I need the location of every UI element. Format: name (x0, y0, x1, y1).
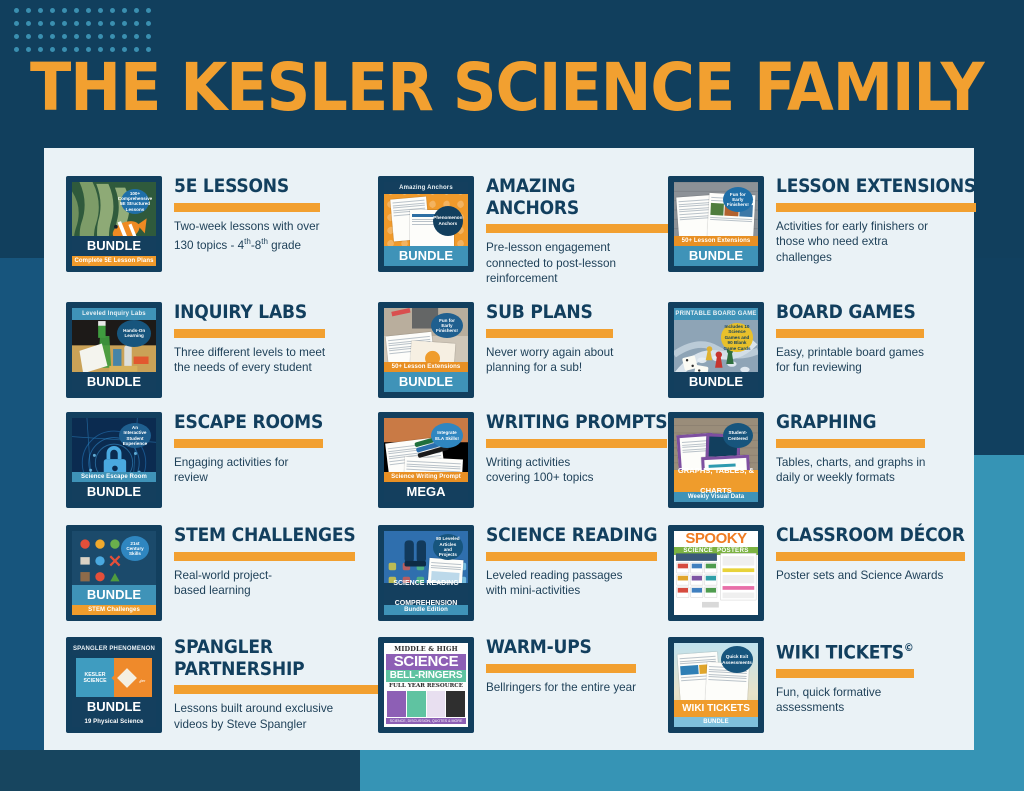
dot (110, 8, 115, 13)
dot (86, 34, 91, 39)
product-card[interactable]: Leveled Inquiry LabsHands-On LearningBUN… (66, 300, 378, 410)
thumbnail-badge: Quick Exit Assessments (721, 646, 753, 673)
product-text: ESCAPE ROOMSEngaging activities forrevie… (174, 410, 323, 486)
dot (98, 34, 103, 39)
product-thumbnail[interactable]: Fun for Early Finishers!50+ Lesson Exten… (378, 302, 474, 398)
orange-underline-bar (486, 329, 613, 338)
product-title: LESSON EXTENSIONS (776, 176, 976, 198)
product-description: Fun, quick formativeassessments (776, 685, 914, 716)
product-card[interactable]: Integrate ELA Skills!Science Writing Pro… (378, 410, 668, 523)
product-description: Leveled reading passageswith mini-activi… (486, 568, 657, 599)
product-text: CLASSROOM DÉCORPoster sets and Science A… (776, 523, 965, 583)
background-band-teal-bottom (360, 750, 1024, 791)
product-thumbnail[interactable]: 80 Leveled Articles and ProjectsBundle E… (378, 525, 474, 621)
thumbnail-bundle-label: BUNDLE (72, 697, 156, 717)
thumbnail-badge: Includes 10 Science Games and 90 Blank G… (721, 323, 753, 352)
thumbnail-badge: Integrate ELA Skills! (431, 423, 463, 448)
thumbnail-sub-label: 19 Physical Science Lessons (72, 717, 156, 727)
thumbnail-badge: 80 Leveled Articles and Projects (433, 534, 463, 559)
thumbnail-badge: Hands-On Learning (117, 320, 151, 347)
dot (14, 34, 19, 39)
product-description: Pre-lesson engagementconnected to post-l… (486, 240, 668, 287)
dot (62, 34, 67, 39)
thumbnail-sub-label: BUNDLE (674, 717, 758, 727)
dot (134, 21, 139, 26)
thumbnail-inner: 21st Century SkillsSTEM ChallengesBUNDLE (72, 531, 156, 615)
thumbnail-inner: An Interactive Student ExperienceScience… (72, 418, 156, 502)
dot (122, 8, 127, 13)
thumbnail-bundle-label: SCIENCE READING COMPREHENSION (384, 583, 468, 605)
product-thumbnail[interactable]: Leveled Inquiry LabsHands-On LearningBUN… (66, 302, 162, 398)
thumbnail-art-science-bell-ringers-cover: MIDDLE & HIGH SCIENCE BELL-RINGERS FULL … (384, 643, 468, 727)
product-description: Tables, charts, and graphs indaily or we… (776, 455, 925, 486)
product-card[interactable]: KESLERSCIENCE ✇stevespangler SPANGLER PH… (66, 635, 378, 750)
orange-underline-bar (486, 224, 668, 233)
product-description: Poster sets and Science Awards (776, 568, 965, 584)
thumbnail-art-spooky-science-posters: SPOOKY SCIENCE POSTERS (674, 531, 758, 615)
thumbnail-badge: Fun for Early Finishers! (723, 187, 753, 212)
thumbnail-badge: Fun for Early Finishers! (431, 313, 463, 338)
thumbnail-header-label: PRINTABLE BOARD GAME (674, 308, 758, 320)
thumbnail-badge: Phenomenon Anchors (433, 206, 463, 236)
product-description: Lessons built around exclusivevideos by … (174, 701, 378, 732)
thumbnail-bundle-label: BUNDLE (674, 246, 758, 266)
product-text: WIKI TICKETS©Fun, quick formativeassessm… (776, 635, 914, 716)
product-text: SCIENCE READINGLeveled reading passagesw… (486, 523, 657, 599)
dot (50, 21, 55, 26)
product-card[interactable]: MIDDLE & HIGH SCIENCE BELL-RINGERS FULL … (378, 635, 668, 750)
thumbnail-bundle-label: BUNDLE (674, 372, 758, 392)
product-card[interactable]: 100+ Comprehensive 5E Structured Lessons… (66, 174, 378, 300)
dot (146, 21, 151, 26)
thumbnail-inner: MIDDLE & HIGH SCIENCE BELL-RINGERS FULL … (384, 643, 468, 727)
product-text: GRAPHINGTables, charts, and graphs indai… (776, 410, 925, 486)
product-text: WARM-UPSBellringers for the entire year (486, 635, 636, 695)
product-thumbnail[interactable]: Integrate ELA Skills!Science Writing Pro… (378, 412, 474, 508)
thumbnail-inner: Amazing AnchorsPhenomenon AnchorsBUNDLE (384, 182, 468, 266)
thumbnail-inner: KESLERSCIENCE ✇stevespangler SPANGLER PH… (72, 643, 156, 727)
product-thumbnail[interactable]: SPOOKY SCIENCE POSTERS (668, 525, 764, 621)
orange-underline-bar (776, 552, 965, 561)
thumbnail-inner: Fun for Early Finishers!50+ Lesson Exten… (384, 308, 468, 392)
product-card[interactable]: Fun for Early Finishers!50+ Lesson Exten… (378, 300, 668, 410)
product-title: 5E LESSONS (174, 176, 320, 198)
product-description: Activities for early finishers orthose w… (776, 219, 976, 266)
product-title: GRAPHING (776, 412, 925, 434)
dot (38, 21, 43, 26)
product-thumbnail[interactable]: Quick Exit AssessmentsBUNDLEWIKI TICKETS (668, 637, 764, 733)
product-title: WIKI TICKETS© (776, 637, 914, 664)
product-title: SUB PLANS (486, 302, 613, 324)
orange-underline-bar (174, 685, 378, 694)
products-grid: 100+ Comprehensive 5E Structured Lessons… (44, 148, 974, 750)
product-thumbnail[interactable]: Amazing AnchorsPhenomenon AnchorsBUNDLE (378, 176, 474, 272)
thumbnail-bundle-label: MEGA BUNDLE (384, 482, 468, 502)
thumbnail-inner: Quick Exit AssessmentsBUNDLEWIKI TICKETS (674, 643, 758, 727)
thumbnail-inner: 80 Leveled Articles and ProjectsBundle E… (384, 531, 468, 615)
orange-underline-bar (486, 664, 636, 673)
dot (146, 34, 151, 39)
dot (122, 21, 127, 26)
product-description: Three different levels to meetthe needs … (174, 345, 325, 376)
thumbnail-sub-label: Science Writing Prompt Activities (384, 472, 468, 482)
orange-underline-bar (486, 552, 657, 561)
thumbnail-sub-label: 50+ Lesson Extensions (674, 236, 758, 246)
thumbnail-sub-label: Science Escape Room (72, 472, 156, 482)
dot (134, 8, 139, 13)
dot (50, 34, 55, 39)
dot (38, 34, 43, 39)
dot (50, 8, 55, 13)
copyright-symbol: © (904, 641, 914, 654)
orange-underline-bar (776, 669, 914, 678)
product-card[interactable]: 21st Century SkillsSTEM ChallengesBUNDLE… (66, 523, 378, 635)
thumbnail-bundle-label: BUNDLE (384, 372, 468, 392)
thumbnail-inner: Student-CenteredWeekly Visual DataGRAPHS… (674, 418, 758, 502)
dot (134, 34, 139, 39)
dot (26, 8, 31, 13)
orange-underline-bar (486, 439, 667, 448)
thumbnail-inner: Fun for Early Finishers!50+ Lesson Exten… (674, 182, 758, 266)
product-thumbnail[interactable]: 100+ Comprehensive 5E Structured Lessons… (66, 176, 162, 272)
thumbnail-inner: SPOOKY SCIENCE POSTERS (674, 531, 758, 615)
product-card[interactable]: SPOOKY SCIENCE POSTERS CLASSROOM DÉCORPo… (668, 523, 996, 635)
thumbnail-bundle-label: WIKI TICKETS (674, 700, 758, 717)
orange-underline-bar (776, 329, 924, 338)
product-thumbnail[interactable]: An Interactive Student ExperienceScience… (66, 412, 162, 508)
product-title: AMAZING ANCHORS (486, 176, 668, 219)
product-description: Never worry again aboutplanning for a su… (486, 345, 613, 376)
product-thumbnail[interactable]: Student-CenteredWeekly Visual DataGRAPHS… (668, 412, 764, 508)
product-description: Bellringers for the entire year (486, 680, 636, 696)
thumbnail-inner: Leveled Inquiry LabsHands-On LearningBUN… (72, 308, 156, 392)
product-description: Engaging activities forreview (174, 455, 323, 486)
orange-underline-bar (174, 439, 323, 448)
orange-underline-bar (174, 329, 325, 338)
thumbnail-bundle-label: BUNDLE (72, 372, 156, 392)
orange-underline-bar (174, 552, 355, 561)
product-card[interactable]: PRINTABLE BOARD GAMEIncludes 10 Science … (668, 300, 996, 410)
product-text: LESSON EXTENSIONSActivities for early fi… (776, 174, 976, 265)
dot (122, 34, 127, 39)
product-card[interactable]: Student-CenteredWeekly Visual DataGRAPHS… (668, 410, 996, 523)
product-text: SPANGLER PARTNERSHIPLessons built around… (174, 635, 378, 732)
thumbnail-header-label: Amazing Anchors (384, 182, 468, 194)
thumbnail-sub-label: Complete 5E Lesson Plans (72, 256, 156, 266)
thumbnail-bundle-label: GRAPHS, TABLES, & CHARTS (674, 470, 758, 492)
thumbnail-bundle-label: BUNDLE (72, 482, 156, 502)
orange-underline-bar (174, 203, 320, 212)
product-card[interactable]: Amazing AnchorsPhenomenon AnchorsBUNDLEA… (378, 174, 668, 300)
product-title: SPANGLER PARTNERSHIP (174, 637, 378, 680)
dot (110, 34, 115, 39)
product-text: SUB PLANSNever worry again aboutplanning… (486, 300, 613, 376)
dot (14, 47, 19, 52)
product-title: SCIENCE READING (486, 525, 657, 547)
product-description: Two-week lessons with over130 topics - 4… (174, 219, 320, 254)
product-text: STEM CHALLENGESReal-world project-based … (174, 523, 355, 599)
thumbnail-header-label: Leveled Inquiry Labs (72, 308, 156, 320)
products-panel: 100+ Comprehensive 5E Structured Lessons… (44, 148, 974, 750)
product-title: BOARD GAMES (776, 302, 924, 324)
thumbnail-sub-label: STEM Challenges (72, 605, 156, 615)
product-title: INQUIRY LABS (174, 302, 325, 324)
product-title: CLASSROOM DÉCOR (776, 525, 965, 547)
dot (146, 8, 151, 13)
dot (38, 8, 43, 13)
product-card[interactable]: An Interactive Student ExperienceScience… (66, 410, 378, 523)
dot (62, 21, 67, 26)
dot (26, 34, 31, 39)
product-card[interactable]: Fun for Early Finishers!50+ Lesson Exten… (668, 174, 996, 300)
product-title: STEM CHALLENGES (174, 525, 355, 547)
product-card[interactable]: 80 Leveled Articles and ProjectsBundle E… (378, 523, 668, 635)
product-description: Real-world project-based learning (174, 568, 355, 599)
product-description: Writing activitiescovering 100+ topics (486, 455, 667, 486)
dot (86, 21, 91, 26)
page-title: THE KESLER SCIENCE FAMILY (30, 52, 1024, 124)
thumbnail-sub-label: 50+ Lesson Extensions (384, 362, 468, 372)
product-title: WARM-UPS (486, 637, 636, 659)
dot (98, 21, 103, 26)
thumbnail-header-label: SPANGLER PHENOMENON (72, 643, 156, 655)
product-thumbnail[interactable]: Fun for Early Finishers!50+ Lesson Exten… (668, 176, 764, 272)
product-text: INQUIRY LABSThree different levels to me… (174, 300, 325, 376)
orange-underline-bar (776, 203, 976, 212)
thumbnail-bundle-label: BUNDLE (72, 585, 156, 605)
product-text: BOARD GAMESEasy, printable board gamesfo… (776, 300, 924, 376)
thumbnail-badge: An Interactive Student Experience (119, 423, 151, 448)
dot (110, 21, 115, 26)
dot (74, 8, 79, 13)
product-thumbnail[interactable]: 21st Century SkillsSTEM ChallengesBUNDLE (66, 525, 162, 621)
dot (14, 8, 19, 13)
dot (74, 34, 79, 39)
dot (98, 8, 103, 13)
dot (26, 21, 31, 26)
product-text: AMAZING ANCHORSPre-lesson engagementconn… (486, 174, 668, 287)
thumbnail-bundle-label: BUNDLE (384, 246, 468, 266)
product-thumbnail[interactable]: PRINTABLE BOARD GAMEIncludes 10 Science … (668, 302, 764, 398)
dot (14, 21, 19, 26)
thumbnail-inner: Integrate ELA Skills!Science Writing Pro… (384, 418, 468, 502)
thumbnail-inner: PRINTABLE BOARD GAMEIncludes 10 Science … (674, 308, 758, 392)
product-thumbnail[interactable]: KESLERSCIENCE ✇stevespangler SPANGLER PH… (66, 637, 162, 733)
dot (62, 8, 67, 13)
thumbnail-bundle-label: BUNDLE (72, 236, 156, 256)
product-title: ESCAPE ROOMS (174, 412, 323, 434)
product-title: WRITING PROMPTS (486, 412, 667, 434)
thumbnail-badge: 100+ Comprehensive 5E Structured Lessons (121, 189, 150, 214)
product-description: Easy, printable board gamesfor fun revie… (776, 345, 924, 376)
dot (74, 21, 79, 26)
product-text: WRITING PROMPTSWriting activitiescoverin… (486, 410, 667, 486)
dot (86, 8, 91, 13)
thumbnail-inner: 100+ Comprehensive 5E Structured Lessons… (72, 182, 156, 266)
product-thumbnail[interactable]: MIDDLE & HIGH SCIENCE BELL-RINGERS FULL … (378, 637, 474, 733)
product-text: 5E LESSONSTwo-week lessons with over130 … (174, 174, 320, 254)
orange-underline-bar (776, 439, 925, 448)
product-card[interactable]: Quick Exit AssessmentsBUNDLEWIKI TICKETS… (668, 635, 996, 750)
thumbnail-badge: Student-Centered (723, 423, 753, 448)
background-band-navy-bottom-left (0, 750, 360, 791)
